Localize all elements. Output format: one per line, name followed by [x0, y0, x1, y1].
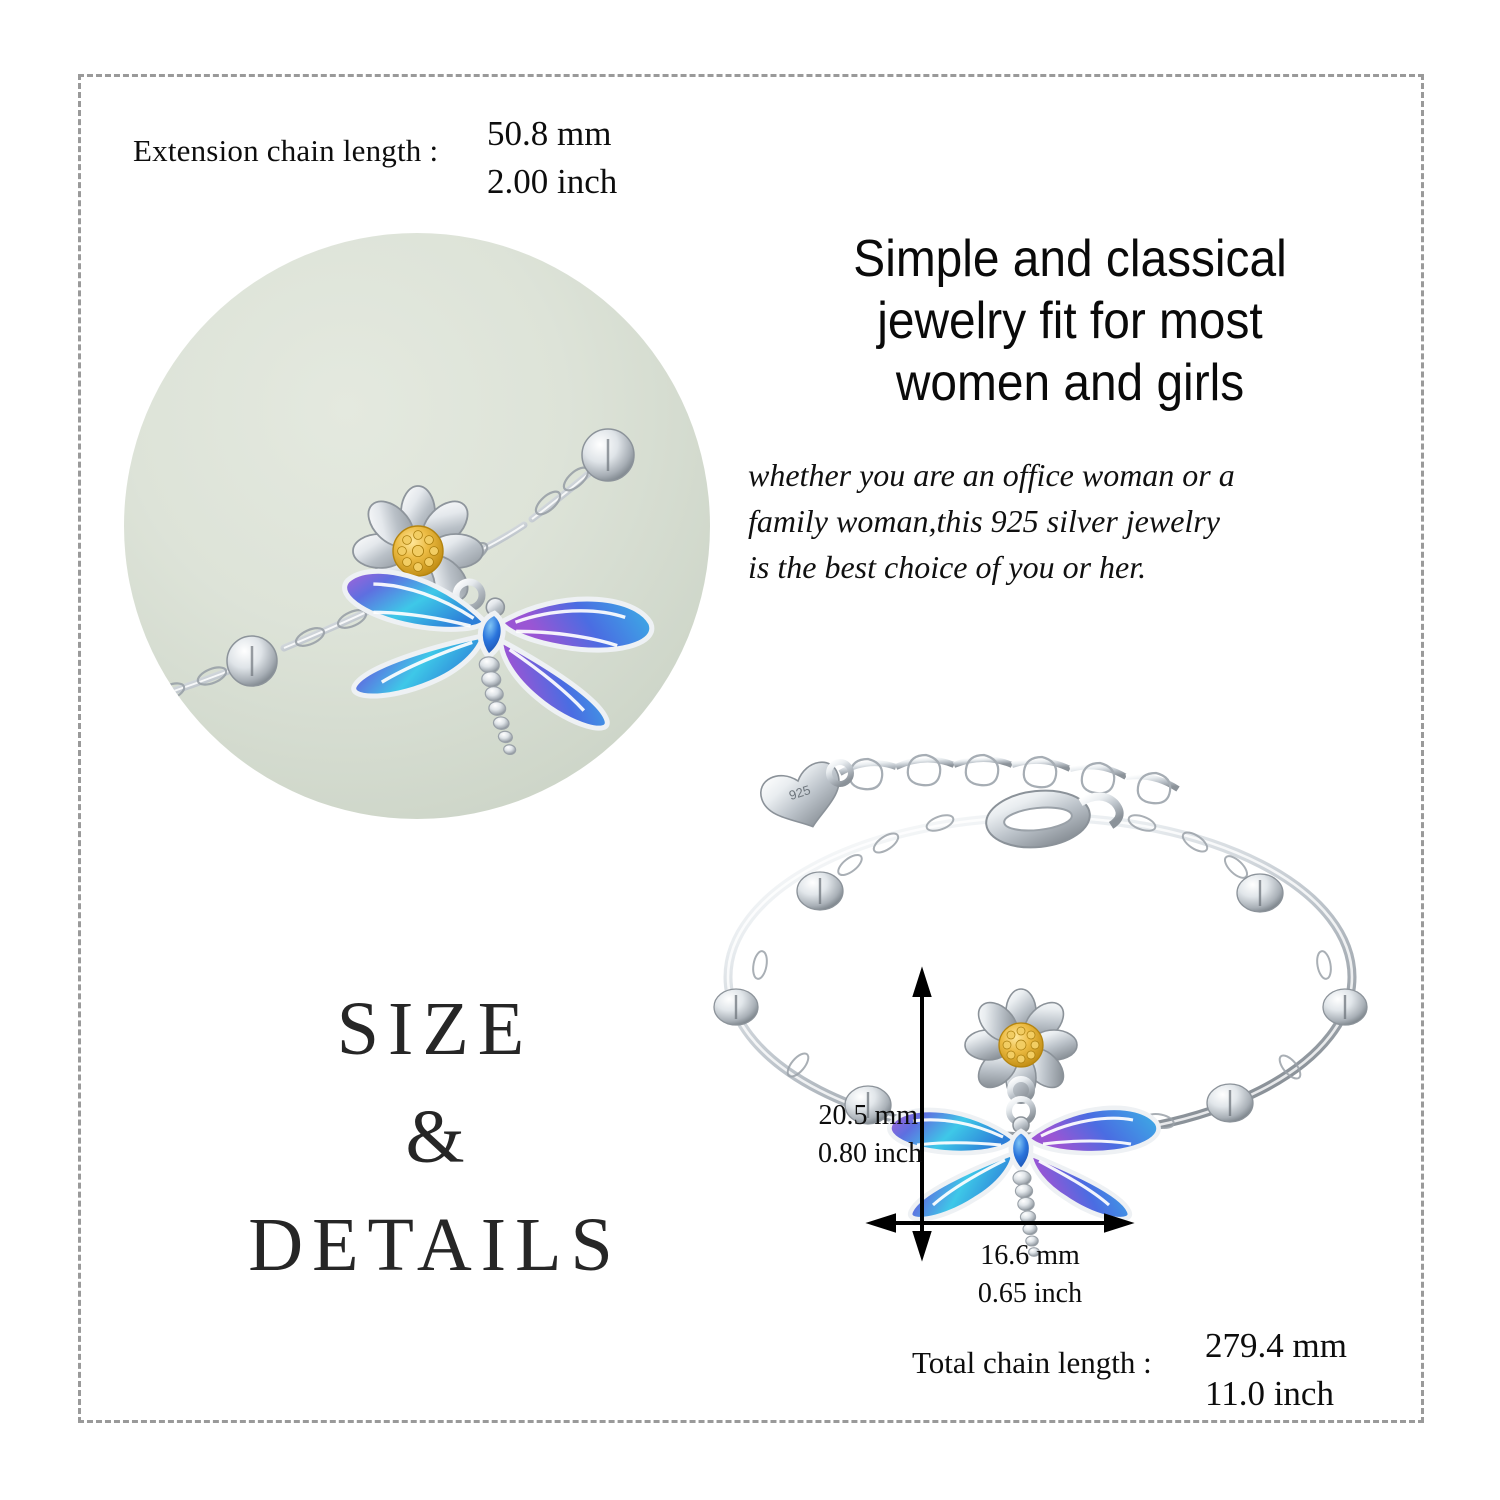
circle-photo-artwork: [124, 233, 710, 819]
total-chain-values: 279.4 mm 11.0 inch: [1205, 1322, 1347, 1418]
charm-width-mm: 16.6 mm: [950, 1237, 1110, 1275]
charm-width-inch: 0.65 inch: [950, 1275, 1110, 1313]
size-heading-ampersand: &: [140, 1083, 730, 1191]
charm-height-inch: 0.80 inch: [818, 1135, 918, 1173]
total-chain-inch: 11.0 inch: [1205, 1370, 1347, 1418]
infographic-page: Extension chain length : 50.8 mm 2.00 in…: [0, 0, 1500, 1500]
size-heading-line-3: DETAILS: [140, 1191, 730, 1299]
dragonfly-charm: [325, 564, 655, 772]
product-photo-circle: [124, 233, 710, 819]
size-heading-line-1: SIZE: [140, 975, 730, 1083]
extension-chain-inch: 2.00 inch: [487, 158, 617, 206]
headline-line-2: jewelry fit for most: [771, 290, 1369, 352]
headline-line-1: Simple and classical: [771, 228, 1369, 290]
charm-height-mm: 20.5 mm: [818, 1097, 918, 1135]
size-details-heading: SIZE & DETAILS: [140, 975, 730, 1299]
total-chain-mm: 279.4 mm: [1205, 1322, 1347, 1370]
extension-chain-values: 50.8 mm 2.00 inch: [487, 110, 617, 206]
description-line-3: is the best choice of you or her.: [748, 544, 1388, 590]
extension-chain-label: Extension chain length :: [133, 133, 438, 169]
extension-chain-mm: 50.8 mm: [487, 110, 617, 158]
total-chain-label: Total chain length :: [912, 1345, 1152, 1381]
dimension-annotations: [690, 715, 1420, 1295]
description-line-1: whether you are an office woman or a: [748, 452, 1388, 498]
charm-height-label: 20.5 mm 0.80 inch: [818, 1097, 918, 1173]
description-line-2: family woman,this 925 silver jewelry: [748, 498, 1388, 544]
description-paragraph: whether you are an office woman or a fam…: [748, 452, 1388, 590]
headline: Simple and classical jewelry fit for mos…: [771, 228, 1369, 414]
headline-line-3: women and girls: [771, 352, 1369, 414]
charm-width-label: 16.6 mm 0.65 inch: [950, 1237, 1110, 1313]
